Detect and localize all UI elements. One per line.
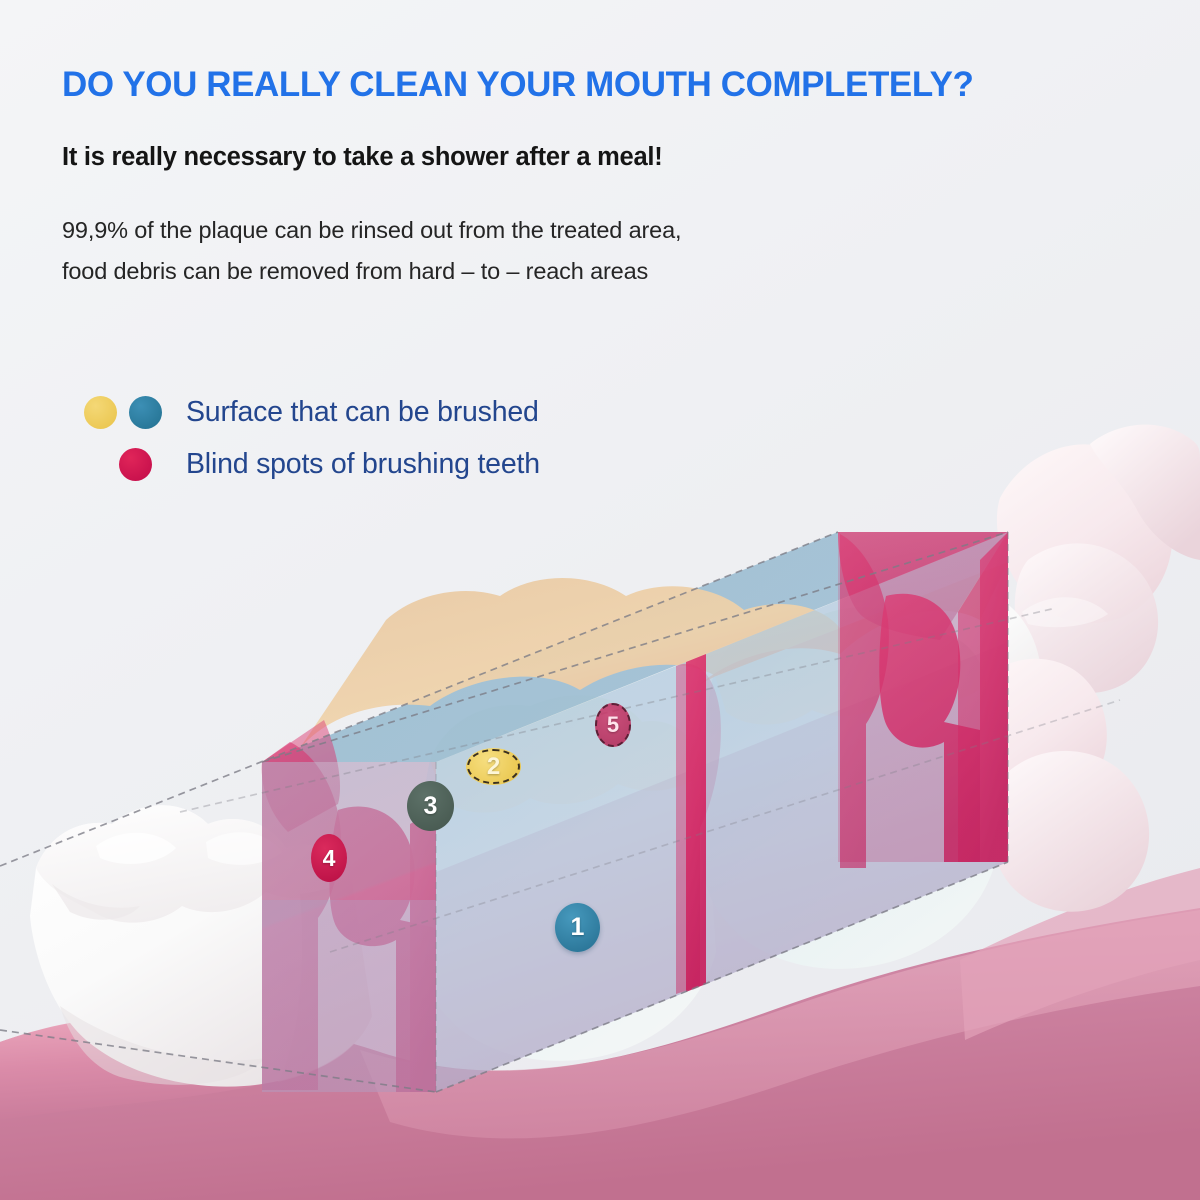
diagram-marker-4[interactable]: 4 <box>311 834 347 882</box>
legend-label-brushable: Surface that can be brushed <box>186 396 539 429</box>
legend-swatches-blind-spots <box>84 448 186 481</box>
paragraph-line-1: 99,9% of the plaque can be rinsed out fr… <box>62 210 1152 250</box>
diagram-marker-1[interactable]: 1 <box>555 903 600 952</box>
legend-label-blind-spots: Blind spots of brushing teeth <box>186 448 540 481</box>
legend-dot-yellow-icon <box>84 396 117 429</box>
poster-root: 1 2 3 4 5 DO YOU REALLY CLEAN YOUR MOUTH… <box>0 0 1200 1200</box>
paragraph-line-2: food debris can be removed from hard – t… <box>62 251 1152 291</box>
header-text-block: DO YOU REALLY CLEAN YOUR MOUTH COMPLETEL… <box>62 66 1152 291</box>
legend: Surface that can be brushed Blind spots … <box>84 386 540 490</box>
legend-dot-teal-icon <box>129 396 162 429</box>
page-paragraph: 99,9% of the plaque can be rinsed out fr… <box>62 210 1152 291</box>
page-subtitle: It is really necessary to take a shower … <box>62 143 1152 172</box>
legend-dot-crimson-icon <box>119 448 152 481</box>
slab-cut-plane-right <box>838 532 1008 868</box>
diagram-marker-3[interactable]: 3 <box>407 781 454 831</box>
legend-swatches-brushable <box>84 396 186 429</box>
diagram-marker-5[interactable]: 5 <box>595 703 631 747</box>
legend-item-blind-spots: Blind spots of brushing teeth <box>84 438 540 490</box>
legend-item-brushable: Surface that can be brushed <box>84 386 540 438</box>
diagram-marker-2[interactable]: 2 <box>466 748 521 785</box>
page-title: DO YOU REALLY CLEAN YOUR MOUTH COMPLETEL… <box>62 66 1136 103</box>
